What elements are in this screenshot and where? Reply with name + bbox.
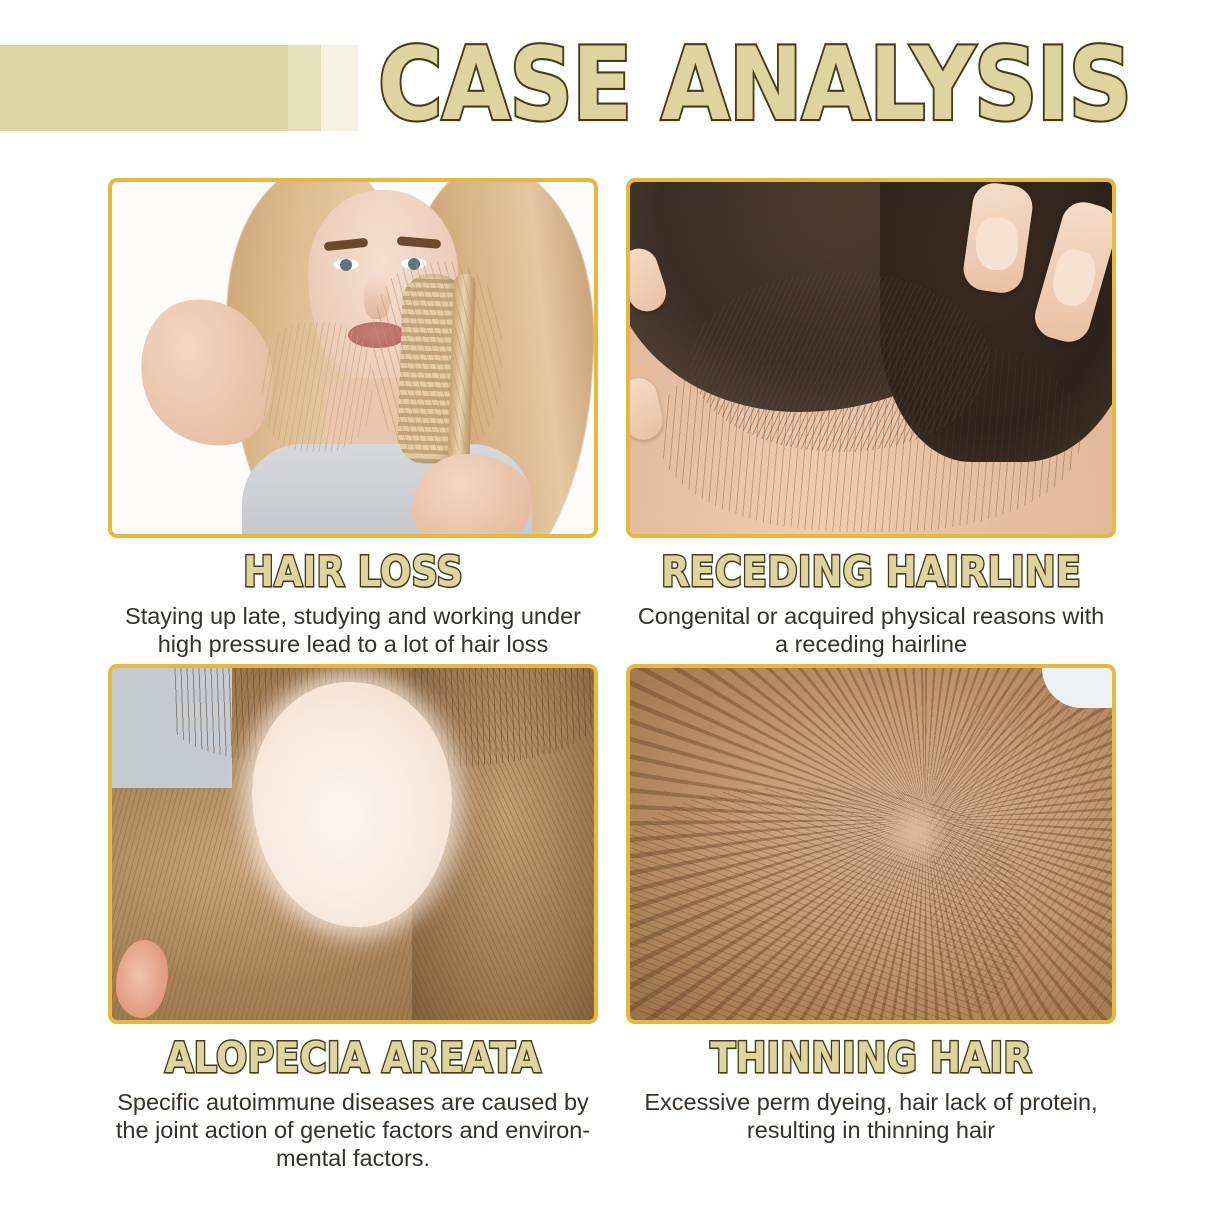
hair-in-brush: [372, 262, 502, 452]
illustration-woman-with-brush: [112, 182, 594, 534]
loose-hair-strand: [262, 322, 372, 452]
band-segment-light: [321, 45, 358, 131]
fingernail-upper: [976, 218, 1018, 270]
page-title: CASE ANALYSIS: [378, 30, 1131, 140]
case-card-receding-hairline: RECEDING HAIRLINE Congenital or acquired…: [626, 178, 1116, 658]
case-card-hair-loss: HAIR LOSS Staying up late, studying and …: [108, 178, 598, 658]
case-card-alopecia-areata: ALOPECIA AREATA Specific autoimmune dise…: [108, 664, 598, 1172]
hair-wisps: [660, 332, 1080, 532]
case-photo-receding-hairline: [626, 178, 1116, 538]
title-decor-band: [0, 45, 358, 131]
page-header: CASE ANALYSIS: [0, 0, 1214, 165]
crown-whorl: [880, 798, 950, 868]
case-title-alopecia-areata: ALOPECIA AREATA: [137, 1036, 568, 1080]
hair-sweep-right: [930, 688, 1116, 1024]
case-title-receding-hairline: RECEDING HAIRLINE: [655, 550, 1086, 594]
case-description-hair-loss: Staying up late, studying and working un…: [108, 602, 598, 658]
case-photo-thinning-hair: [626, 664, 1116, 1024]
band-segment-mid: [288, 45, 321, 131]
illustration-alopecia-patch: [112, 668, 594, 1020]
case-photo-hair-loss: [108, 178, 598, 538]
case-title-thinning-hair: THINNING HAIR: [655, 1036, 1086, 1080]
pupil-left: [340, 259, 352, 271]
case-description-receding-hairline: Congenital or acquired physical reasons …: [626, 602, 1116, 658]
case-photo-alopecia-areata: [108, 664, 598, 1024]
case-card-thinning-hair: THINNING HAIR Excessive perm dyeing, hai…: [626, 664, 1116, 1172]
band-segment-dark: [0, 45, 288, 131]
case-grid: HAIR LOSS Staying up late, studying and …: [108, 178, 1116, 1172]
case-title-hair-loss: HAIR LOSS: [137, 550, 568, 594]
case-description-alopecia-areata: Specific autoimmune diseases are caused …: [108, 1088, 598, 1172]
case-description-thinning-hair: Excessive perm dyeing, hair lack of prot…: [626, 1088, 1116, 1144]
illustration-receding-hairline: [630, 182, 1112, 534]
illustration-thinning-crown: [630, 668, 1112, 1020]
